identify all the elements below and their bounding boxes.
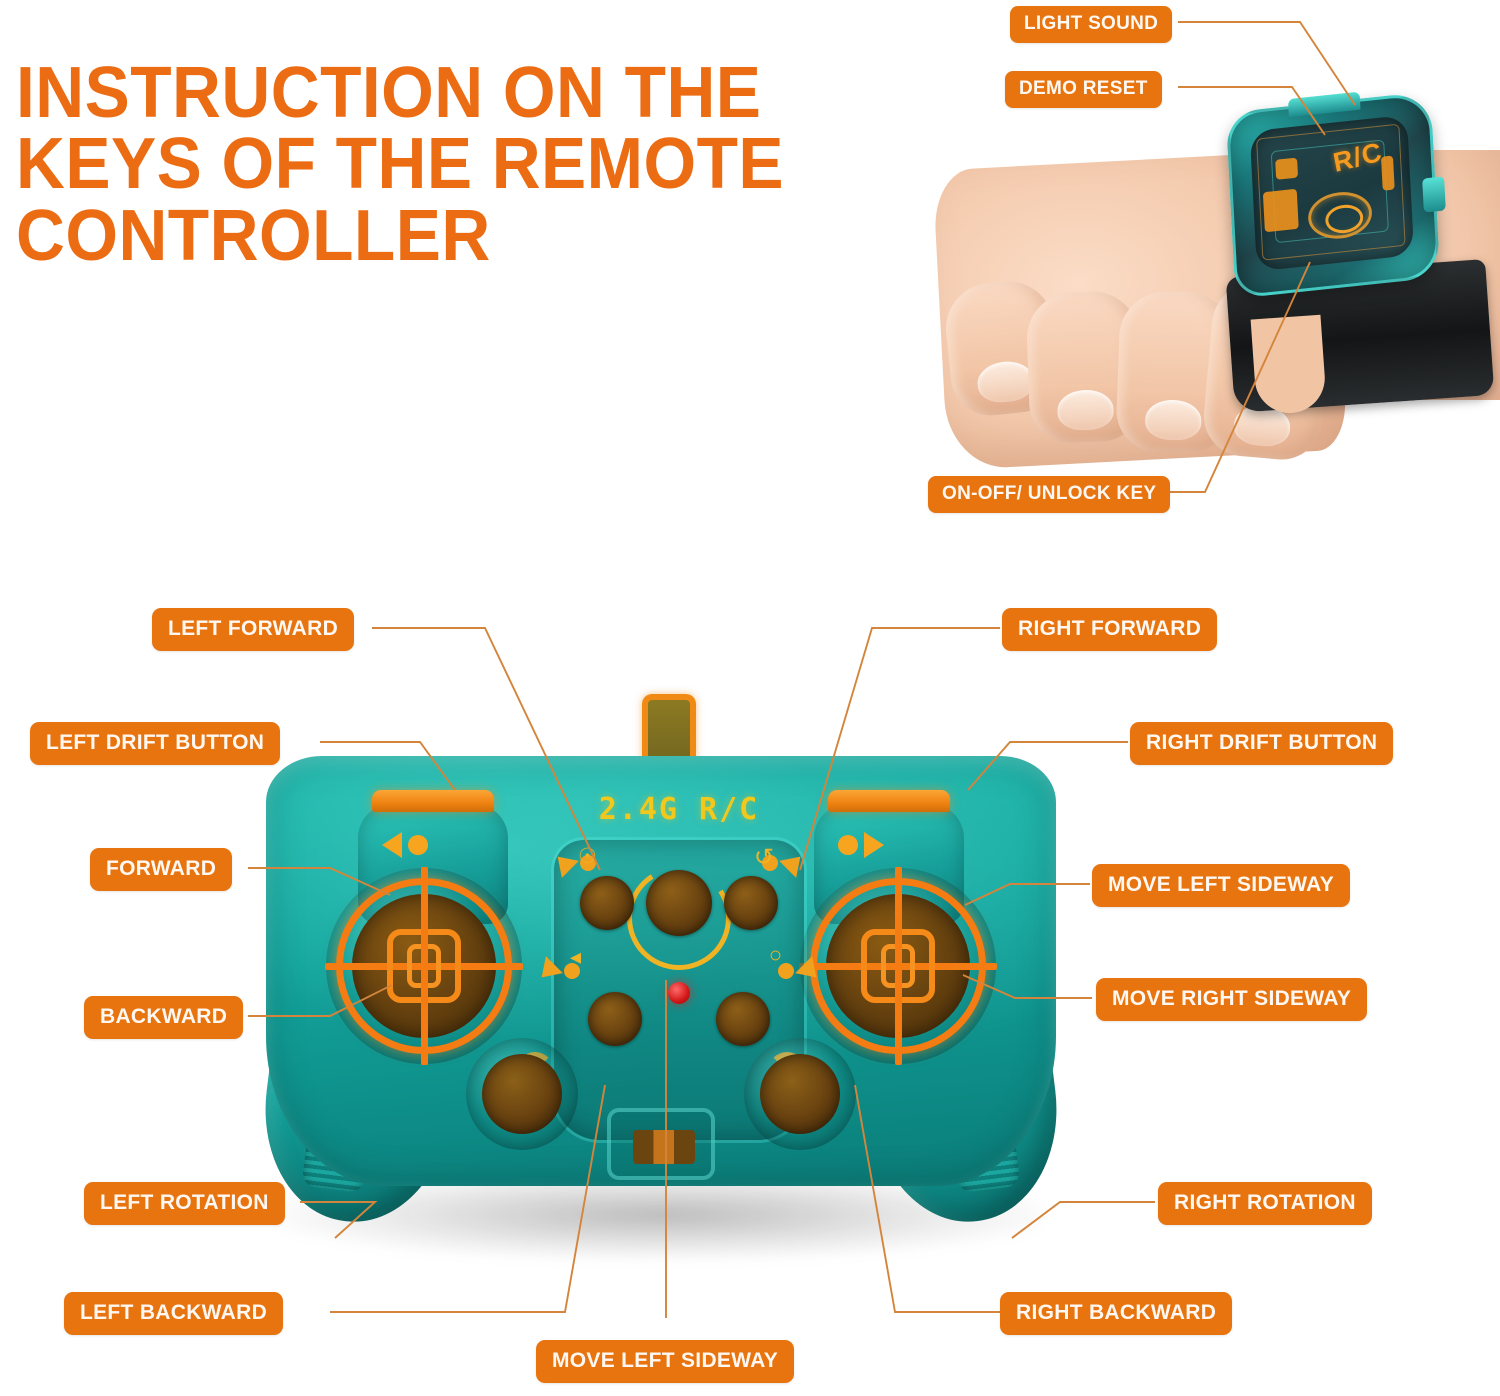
left-joystick-well xyxy=(326,868,522,1064)
button-move-right-sideway[interactable] xyxy=(724,876,778,930)
move-right-back-arrow-icon xyxy=(778,962,822,980)
fingernail xyxy=(1145,399,1202,441)
callout-right-forward[interactable]: RIGHT FORWARD xyxy=(1002,608,1217,651)
crosshair-core-icon xyxy=(407,944,441,988)
fingernail xyxy=(1057,389,1114,431)
callout-demo-reset[interactable]: DEMO RESET xyxy=(1005,71,1162,108)
chip-badge-top xyxy=(1275,157,1298,179)
wrist-device-face: R/C xyxy=(1250,115,1414,272)
crosshair-inner-icon xyxy=(387,929,461,1003)
wrist-device-shell: R/C xyxy=(1226,91,1441,299)
demo-reel-icon: ☉ xyxy=(578,846,597,867)
page-title-line-1: INSTRUCTION ON THE xyxy=(16,58,843,129)
gamepad-body: 2.4G R/C ☉ ↺ xyxy=(266,756,1056,1186)
button-right-backward[interactable] xyxy=(716,992,770,1046)
callout-left-forward[interactable]: LEFT FORWARD xyxy=(152,608,354,651)
right-joystick-well xyxy=(800,868,996,1064)
button-left-backward[interactable] xyxy=(588,992,642,1046)
right-rotation-knob[interactable] xyxy=(744,1038,856,1150)
battery-slot xyxy=(607,1108,715,1180)
chip-badge-left xyxy=(1263,188,1299,232)
chevron-down-left-icon xyxy=(533,956,563,986)
callout-left-rotation[interactable]: LEFT ROTATION xyxy=(84,1182,285,1225)
crosshair-core-icon xyxy=(881,944,915,988)
callout-left-drift-button[interactable]: LEFT DRIFT BUTTON xyxy=(30,722,280,765)
crosshair-icon xyxy=(810,878,986,1054)
callout-right-backward[interactable]: RIGHT BACKWARD xyxy=(1000,1292,1232,1335)
wrist-controller-device[interactable]: R/C xyxy=(1226,91,1441,299)
callout-forward[interactable]: FORWARD xyxy=(90,848,232,891)
left-joystick[interactable] xyxy=(352,894,496,1038)
right-drift-button[interactable] xyxy=(828,790,950,812)
callout-on-off-unlock[interactable]: ON-OFF/ UNLOCK KEY xyxy=(928,476,1170,513)
wrist-device-side-button[interactable] xyxy=(1422,176,1446,212)
chevron-up-left-icon xyxy=(549,848,579,878)
dot-icon xyxy=(838,835,858,855)
crosshair-inner-icon xyxy=(861,929,935,1003)
callout-right-drift-button[interactable]: RIGHT DRIFT BUTTON xyxy=(1130,722,1393,765)
arrow-left-icon xyxy=(382,832,402,858)
light-bulb-icon: ○ xyxy=(769,944,782,966)
left-rotation-knob[interactable] xyxy=(466,1038,578,1150)
callout-move-left-sideway-bottom[interactable]: MOVE LEFT SIDEWAY xyxy=(536,1340,794,1383)
button-move-left-sideway[interactable] xyxy=(580,876,634,930)
right-drift-icon xyxy=(838,830,912,860)
speaker-icon: ◂ xyxy=(570,946,581,968)
dot-icon xyxy=(408,835,428,855)
fingernail xyxy=(976,359,1036,405)
status-led xyxy=(668,982,690,1004)
callout-light-sound[interactable]: LIGHT SOUND xyxy=(1010,6,1172,43)
gamepad-brand-text: 2.4G R/C xyxy=(599,792,760,827)
arrow-right-icon xyxy=(864,832,884,858)
callout-move-right-sideway[interactable]: MOVE RIGHT SIDEWAY xyxy=(1096,978,1367,1021)
gamepad-photo: 2.4G R/C ☉ ↺ xyxy=(250,700,1070,1320)
callout-backward[interactable]: BACKWARD xyxy=(84,996,243,1039)
page-title: INSTRUCTION ON THE KEYS OF THE REMOTE CO… xyxy=(16,58,896,272)
page-title-line-2: KEYS OF THE REMOTE xyxy=(16,129,843,200)
crosshair-icon xyxy=(336,878,512,1054)
left-drift-button[interactable] xyxy=(372,790,494,812)
callout-left-backward[interactable]: LEFT BACKWARD xyxy=(64,1292,283,1335)
callout-right-rotation[interactable]: RIGHT ROTATION xyxy=(1158,1182,1372,1225)
left-drift-icon xyxy=(382,830,456,860)
right-joystick[interactable] xyxy=(826,894,970,1038)
callout-move-left-sideway[interactable]: MOVE LEFT SIDEWAY xyxy=(1092,864,1350,907)
wrist-device-top-tab xyxy=(1288,92,1361,118)
page-title-line-3: CONTROLLER xyxy=(16,201,843,272)
instruction-diagram: INSTRUCTION ON THE KEYS OF THE REMOTE CO… xyxy=(0,0,1500,1396)
button-light-sound-demo[interactable] xyxy=(646,870,712,936)
reset-icon: ↺ xyxy=(754,846,774,870)
chevron-up-right-icon xyxy=(779,848,809,878)
